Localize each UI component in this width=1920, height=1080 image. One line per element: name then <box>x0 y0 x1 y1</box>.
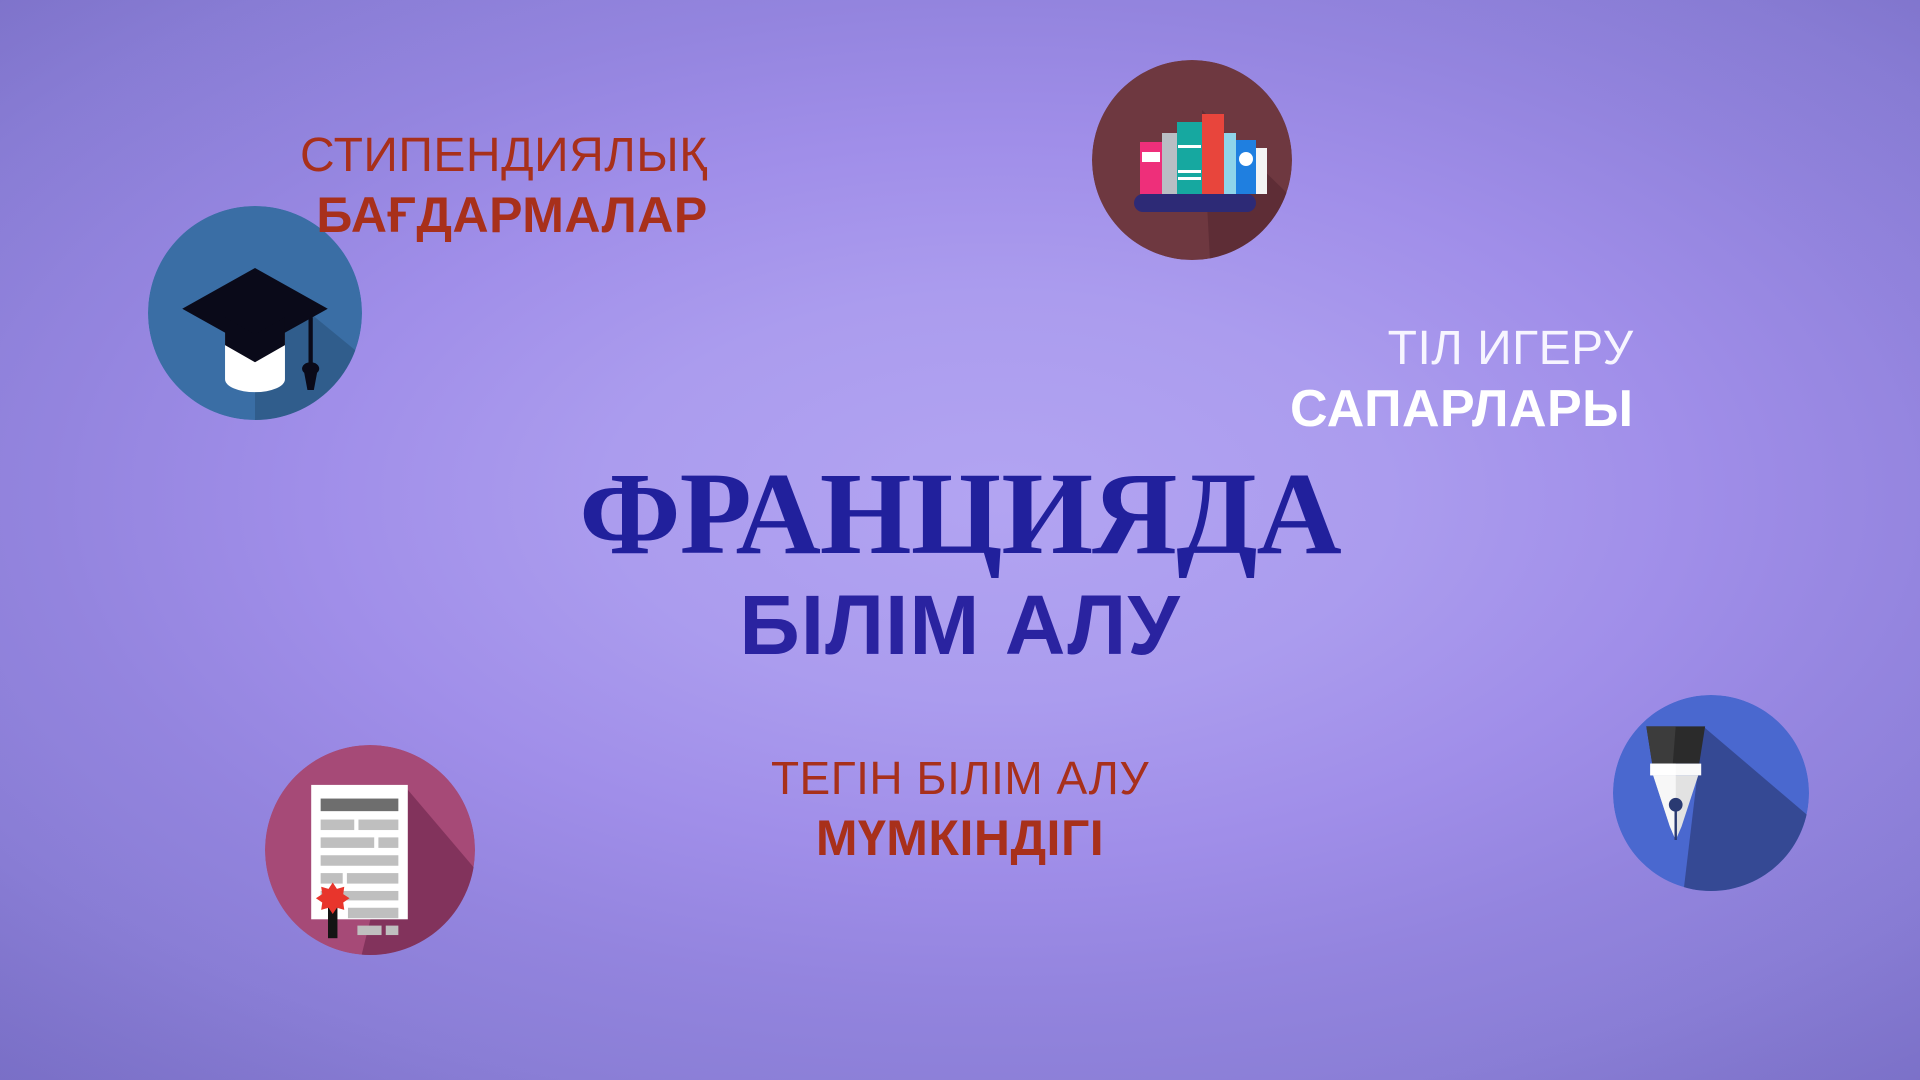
free-education-line-1: ТЕГІН БІЛІМ АЛУ <box>0 755 1920 801</box>
language-trips-text-block: ТІЛ ИГЕРУ САПАРЛАРЫ <box>1290 325 1634 435</box>
scholarship-line-2: БАҒДАРМАЛАР <box>300 190 708 240</box>
free-education-text-block: ТЕГІН БІЛІМ АЛУ МҮМКІНДІГІ <box>0 755 1920 863</box>
poster-canvas: СТИПЕНДИЯЛЫҚ БАҒДАРМАЛАР ТІЛ ИГЕРУ САПАР… <box>0 0 1920 1080</box>
scholarship-line-1: СТИПЕНДИЯЛЫҚ <box>300 132 708 180</box>
language-line-2: САПАРЛАРЫ <box>1290 383 1634 435</box>
main-title-block: ФРАНЦИЯДА БІЛІМ АЛУ <box>0 455 1920 667</box>
scholarship-text-block: СТИПЕНДИЯЛЫҚ БАҒДАРМАЛАР <box>300 132 708 240</box>
books-shelf-icon <box>1092 60 1292 260</box>
page-subtitle: БІЛІМ АЛУ <box>0 583 1920 667</box>
page-title: ФРАНЦИЯДА <box>0 455 1920 573</box>
free-education-line-2: МҮМКІНДІГІ <box>0 813 1920 863</box>
language-line-1: ТІЛ ИГЕРУ <box>1290 325 1634 373</box>
